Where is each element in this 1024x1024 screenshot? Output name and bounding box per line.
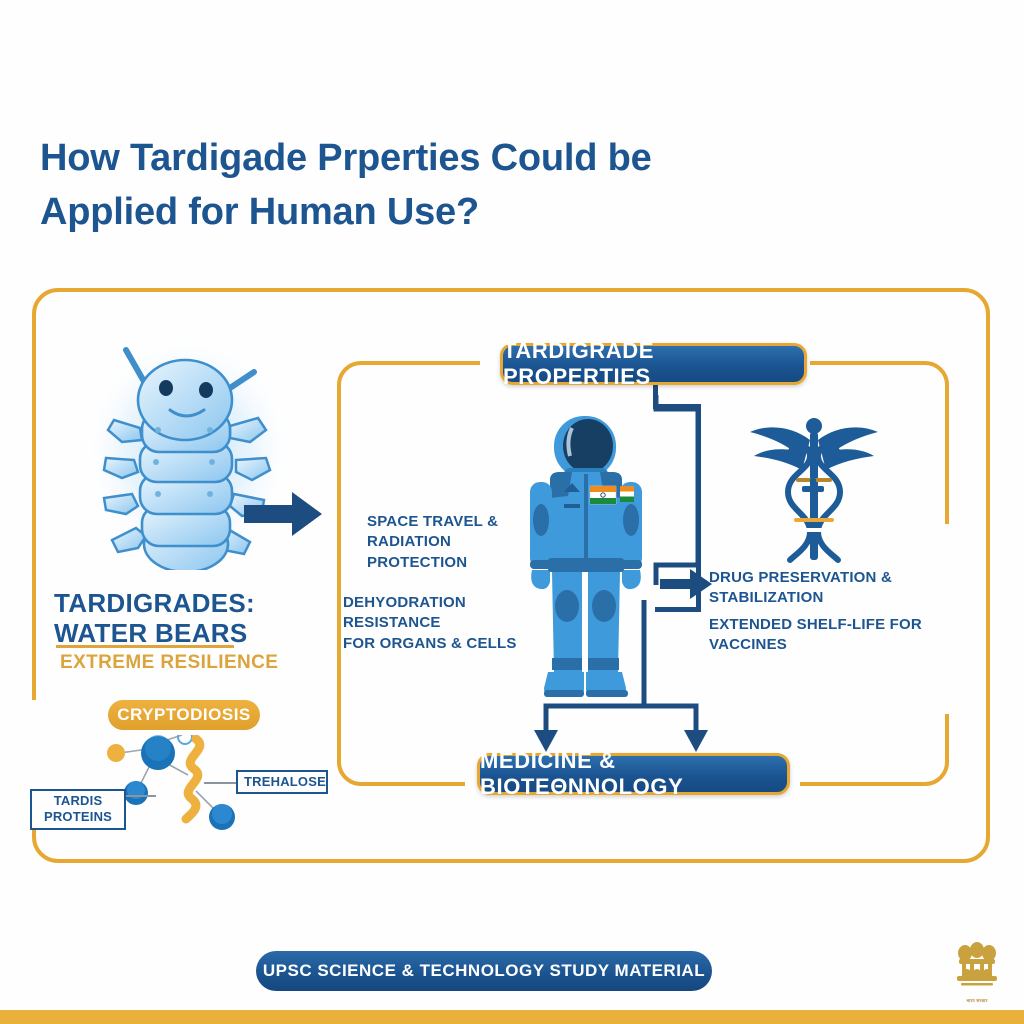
banner-medicine-biotechnology[interactable]: MEDICINE & BIOTEΘNNOLOGY (477, 753, 790, 795)
leader-line-trehalose (204, 782, 236, 784)
text-drug-line-2: STABILIZATION (709, 589, 824, 606)
national-emblem-icon: भारत सरकार (946, 940, 1008, 1006)
text-dehydration-line-1: DEHYODRATION RESISTANCE (343, 594, 466, 631)
drug-preservation-arrow-icon (660, 565, 716, 601)
text-dehydration-line-2: FOR ORGANS & CELLS (343, 635, 517, 652)
label-tardis-line-2: PROTEINS (44, 809, 112, 824)
text-space-travel-line-1: SPACE TRAVEL & (367, 513, 498, 530)
text-drug-line-1: DRUG PRESERVATION & (709, 569, 892, 586)
footer-pill-label: UPSC SCIENCE & TECHNOLOGY STUDY MATERIAL (263, 961, 705, 981)
left-heading-line-2: WATER BEARS (54, 618, 248, 648)
infographic-canvas: How Tardigade Prperties Could be Applied… (0, 0, 1024, 1024)
banner-bottom-label: MEDICINE & BIOTEΘNNOLOGY (480, 748, 787, 800)
leader-line-tardis (126, 795, 156, 797)
bottom-gold-bar (0, 1010, 1024, 1024)
page-title-line-2: Applied for Human Use? (40, 186, 820, 240)
label-tardis-line-1: TARDIS (54, 793, 103, 808)
cryptobiosis-pill-label: CRYPTODIOSIS (117, 705, 251, 725)
left-heading-line-1: TARDIGRADES: (54, 588, 255, 618)
left-heading-rule (56, 645, 234, 648)
text-extended-shelf-life: EXTENDED SHELF-LIFE FOR VACCINES (709, 615, 969, 656)
left-panel-heading: TARDIGRADES: WATER BEARS (54, 588, 314, 649)
cryptobiosis-pill[interactable]: CRYPTODIOSIS (108, 700, 260, 730)
label-trehalose: TREHALOSE (236, 770, 328, 794)
text-space-travel-line-2: RADIATION PROTECTION (367, 533, 467, 570)
text-dehydration-resistance: DEHYODRATION RESISTANCE FOR ORGANS & CEL… (343, 593, 543, 654)
text-shelf-life-label: EXTENDED SHELF-LIFE FOR VACCINES (709, 616, 922, 653)
text-space-travel: SPACE TRAVEL & RADIATION PROTECTION (367, 512, 542, 573)
left-panel-subtitle: EXTREME RESILIENCE (60, 652, 278, 674)
right-arrow-icon (244, 492, 322, 536)
page-title-line-1: How Tardigade Prperties Could be (40, 132, 820, 186)
label-tardis-proteins: TARDIS PROTEINS (30, 789, 126, 830)
banner-top-label: TARDIGRADE PROPERTIES (503, 338, 804, 390)
banner-tardigrade-properties[interactable]: TARDIGRADE PROPERTIES (500, 343, 807, 385)
label-trehalose-text: TREHALOSE (244, 774, 326, 789)
page-title: How Tardigade Prperties Could be Applied… (40, 132, 820, 240)
caduceus-dna-icon (740, 412, 888, 572)
text-drug-preservation: DRUG PRESERVATION & STABILIZATION (709, 568, 954, 609)
footer-pill[interactable]: UPSC SCIENCE & TECHNOLOGY STUDY MATERIAL (256, 951, 712, 991)
emblem-caption: भारत सरकार (946, 998, 1008, 1004)
